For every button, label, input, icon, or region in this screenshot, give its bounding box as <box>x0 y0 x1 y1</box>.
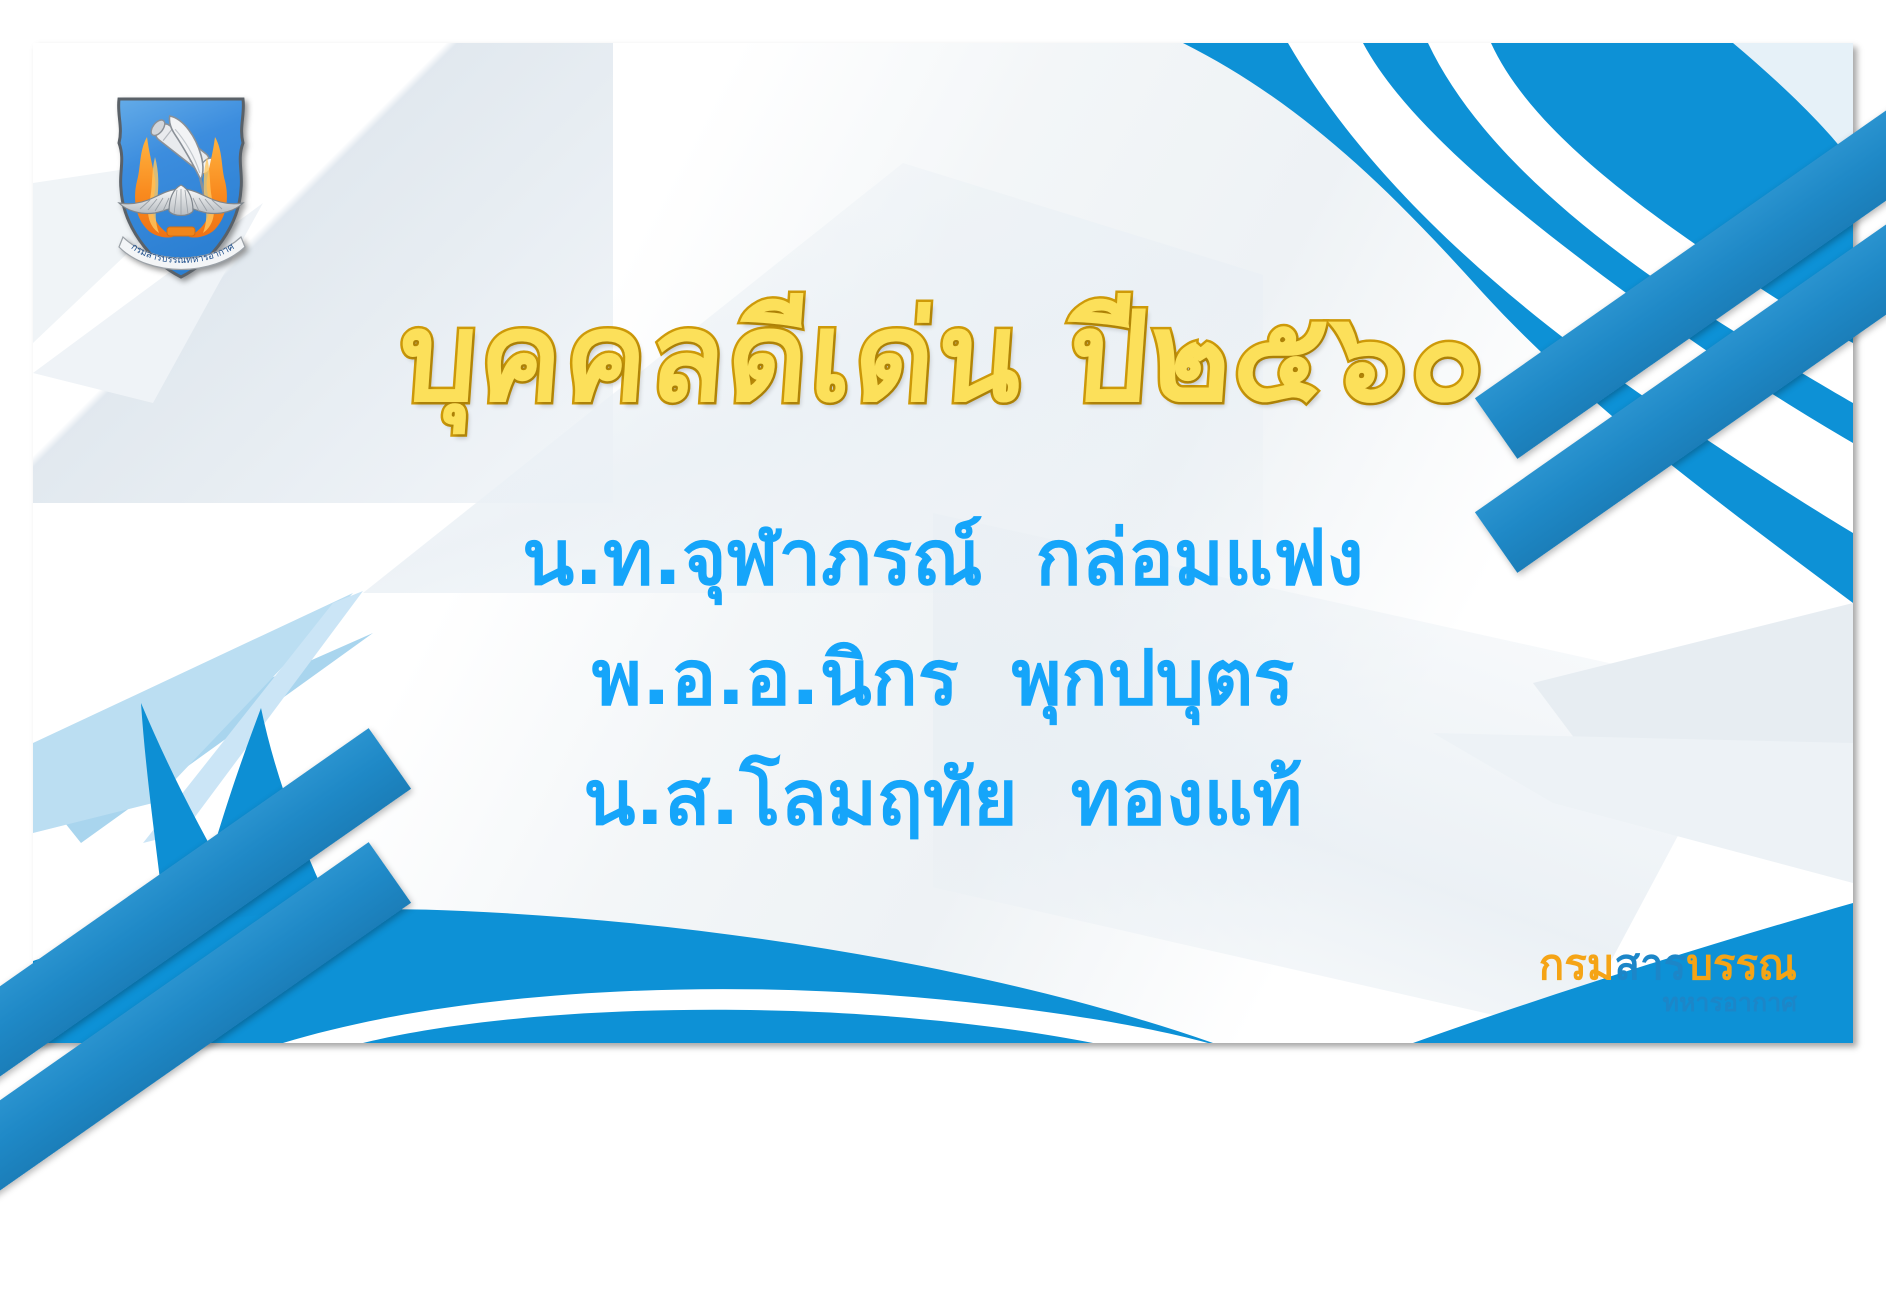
wordmark-part-1: กรม <box>1539 940 1615 989</box>
organization-wordmark: กรมสารบรรณ ทหารอากาศ <box>1539 944 1797 1015</box>
wordmark-part-2: สาร <box>1614 940 1686 989</box>
wordmark-part-3: บรรณ <box>1686 940 1797 989</box>
wordmark-sub-line: ทหารอากาศ <box>1539 990 1797 1015</box>
list-item: พ.อ.อ.นิกร พุกปบุตร <box>33 618 1853 738</box>
emblem: กรมสารบรรณทหารอากาศ <box>93 85 269 285</box>
wreath-tie-bar <box>167 227 195 236</box>
wordmark-main-line: กรมสารบรรณ <box>1539 944 1797 986</box>
slide-canvas: กรมสารบรรณทหารอากาศ บุคคลดีเด่น ปี๒๕๖๐ น… <box>0 0 1886 1301</box>
